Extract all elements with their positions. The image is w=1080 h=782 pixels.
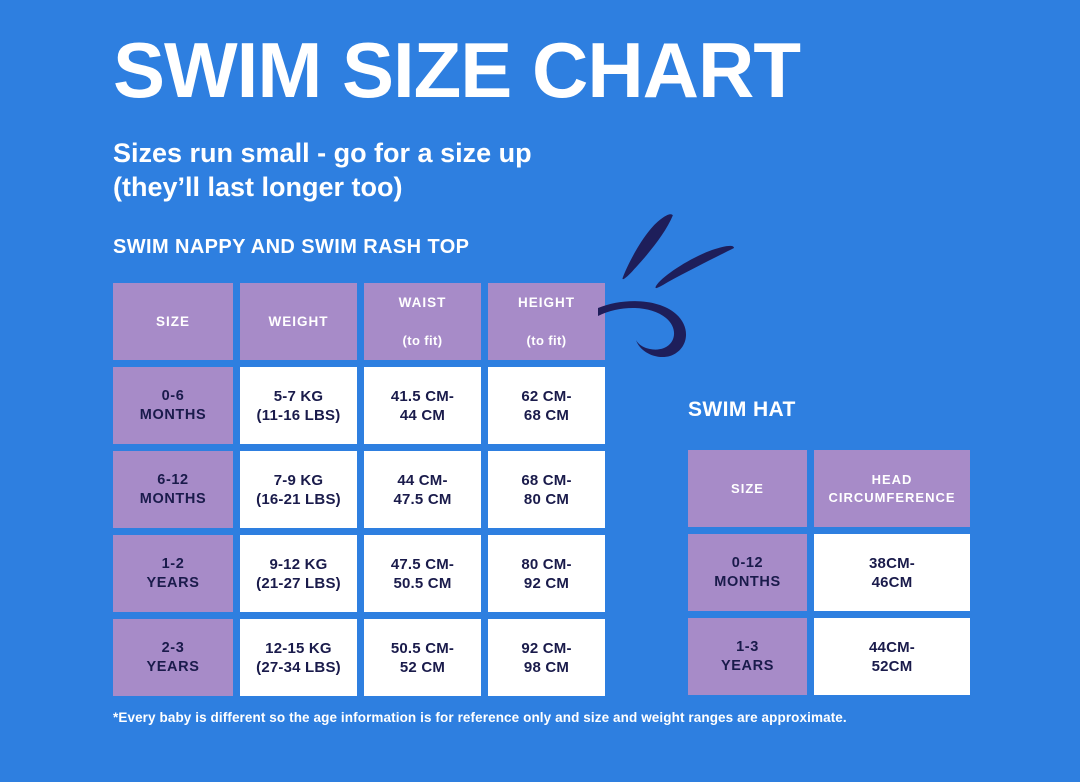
- table-header-size-title: SIZE: [156, 312, 190, 331]
- table-row: 1-2 YEARS: [113, 535, 233, 612]
- table-header-waist-sub: (to fit): [399, 331, 447, 350]
- table-cell-height: 62 CM- 68 CM: [488, 367, 605, 444]
- footnote: *Every baby is different so the age info…: [113, 710, 847, 725]
- table-cell-height: 80 CM- 92 CM: [488, 535, 605, 612]
- table-cell-weight: 12-15 KG (27-34 LBS): [240, 619, 357, 696]
- table-header-waist-title: WAIST: [399, 293, 447, 312]
- water-splash-icon: [596, 204, 756, 364]
- table-row: 0-6 MONTHS: [113, 367, 233, 444]
- table-cell-waist: 50.5 CM- 52 CM: [364, 619, 481, 696]
- swim-nappy-size-table: SIZE WEIGHT WAIST (to fit) HEIGHT (to fi…: [113, 283, 605, 696]
- table-header-size: SIZE: [113, 283, 233, 360]
- page-title-bold: SWIM: [113, 26, 321, 114]
- table-row: 1-3 YEARS: [688, 618, 807, 695]
- table-header-weight-title: WEIGHT: [269, 312, 329, 331]
- table-cell-weight: 7-9 KG (16-21 LBS): [240, 451, 357, 528]
- size-chart-page: SWIM SIZE CHART Sizes run small - go for…: [0, 0, 1080, 782]
- hat-table-header-size: SIZE: [688, 450, 807, 527]
- table-cell-weight: 9-12 KG (21-27 LBS): [240, 535, 357, 612]
- table-row: 6-12 MONTHS: [113, 451, 233, 528]
- table-header-waist: WAIST (to fit): [364, 283, 481, 360]
- table-header-height-title: HEIGHT: [518, 293, 575, 312]
- table-header-height-sub: (to fit): [518, 331, 575, 350]
- section-label-swim-nappy: SWIM NAPPY AND SWIM RASH TOP: [113, 236, 469, 259]
- table-cell-weight: 5-7 KG (11-16 LBS): [240, 367, 357, 444]
- table-cell-waist: 44 CM- 47.5 CM: [364, 451, 481, 528]
- table-cell-waist: 41.5 CM- 44 CM: [364, 367, 481, 444]
- table-header-weight: WEIGHT: [240, 283, 357, 360]
- hat-table-cell-circumference: 38CM- 46CM: [814, 534, 970, 611]
- table-row: 2-3 YEARS: [113, 619, 233, 696]
- table-row: 0-12 MONTHS: [688, 534, 807, 611]
- swim-hat-size-table: SIZE HEAD CIRCUMFERENCE 0-12 MONTHS 38CM…: [688, 450, 970, 695]
- hat-table-header-circumference: HEAD CIRCUMFERENCE: [814, 450, 970, 527]
- table-header-height: HEIGHT (to fit): [488, 283, 605, 360]
- page-title-rest: SIZE CHART: [321, 26, 800, 114]
- table-cell-waist: 47.5 CM- 50.5 CM: [364, 535, 481, 612]
- table-cell-height: 68 CM- 80 CM: [488, 451, 605, 528]
- hat-table-cell-circumference: 44CM- 52CM: [814, 618, 970, 695]
- section-label-swim-hat: SWIM HAT: [688, 398, 796, 422]
- page-title: SWIM SIZE CHART: [113, 28, 800, 112]
- page-subtitle: Sizes run small - go for a size up (they…: [113, 136, 532, 204]
- table-cell-height: 92 CM- 98 CM: [488, 619, 605, 696]
